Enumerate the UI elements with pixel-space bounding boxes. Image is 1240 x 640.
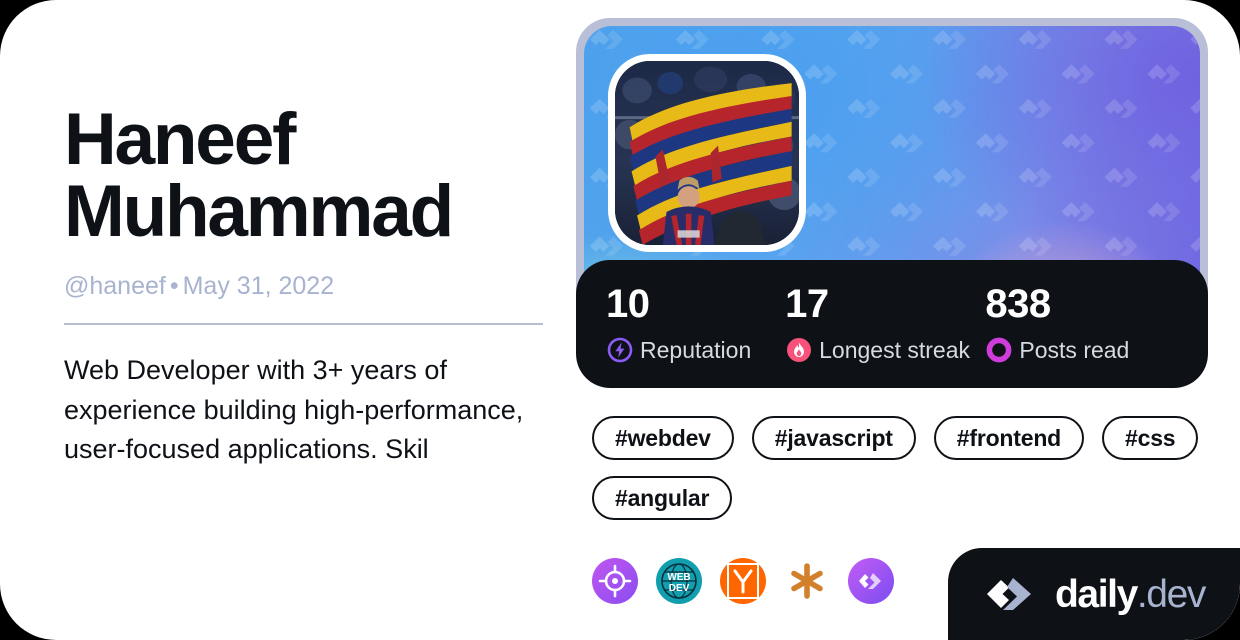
stat-label: Longest streak: [819, 339, 970, 362]
tag-list: #webdev #javascript #frontend #css #angu…: [592, 416, 1208, 520]
posts-read-ring-icon: [985, 336, 1013, 364]
brand-name: daily: [1055, 573, 1137, 616]
asterisk-source-icon[interactable]: [784, 558, 830, 604]
page-title: Haneef Muhammad: [64, 104, 554, 247]
webdev-source-icon[interactable]: WEB DEV: [656, 558, 702, 604]
stats-bar: 10 Reputation 17: [576, 260, 1208, 388]
stat-reputation: 10 Reputation: [606, 284, 785, 364]
source-icon-list: WEB DEV: [592, 558, 894, 604]
dailydev-brand-badge: daily.dev: [948, 548, 1240, 640]
stat-label: Reputation: [640, 339, 751, 362]
stat-posts-read: 838 Posts read: [985, 284, 1178, 364]
brand-wordmark: daily.dev: [1055, 575, 1205, 614]
profile-bio: Web Developer with 3+ years of experienc…: [64, 351, 524, 471]
tag-item[interactable]: #css: [1102, 416, 1198, 460]
profile-info-column: Haneef Muhammad @haneef•May 31, 2022 Web…: [64, 104, 554, 470]
stat-label: Posts read: [1019, 339, 1129, 362]
profile-card: Haneef Muhammad @haneef•May 31, 2022 Web…: [0, 0, 1240, 640]
profile-meta: @haneef•May 31, 2022: [64, 273, 554, 301]
stat-value: 10: [606, 284, 785, 324]
meta-separator: •: [166, 272, 183, 300]
dailydev-logo-icon: [983, 574, 1041, 614]
stat-longest-streak: 17 Longest streak: [785, 284, 985, 364]
join-date: May 31, 2022: [183, 272, 335, 300]
svg-text:WEB: WEB: [667, 572, 690, 583]
svg-text:DEV: DEV: [669, 583, 690, 594]
streak-flame-icon: [785, 336, 813, 364]
profile-handle: @haneef: [64, 272, 166, 300]
cover-frame: 10 Reputation 17: [576, 18, 1208, 388]
profile-visual-column: 10 Reputation 17: [576, 18, 1224, 388]
tag-item[interactable]: #javascript: [752, 416, 916, 460]
stat-value: 17: [785, 284, 985, 324]
tag-item[interactable]: #angular: [592, 476, 732, 520]
stat-value: 838: [985, 284, 1178, 324]
crosshair-target-source-icon[interactable]: [592, 558, 638, 604]
avatar-image: [615, 61, 799, 245]
brand-suffix: .dev: [1137, 573, 1205, 616]
tag-item[interactable]: #webdev: [592, 416, 734, 460]
tag-item[interactable]: #frontend: [934, 416, 1084, 460]
hacker-news-y-source-icon[interactable]: [720, 558, 766, 604]
reputation-bolt-icon: [606, 336, 634, 364]
dailydev-chevron-source-icon[interactable]: [848, 558, 894, 604]
divider: [64, 323, 543, 325]
avatar: [608, 54, 806, 252]
